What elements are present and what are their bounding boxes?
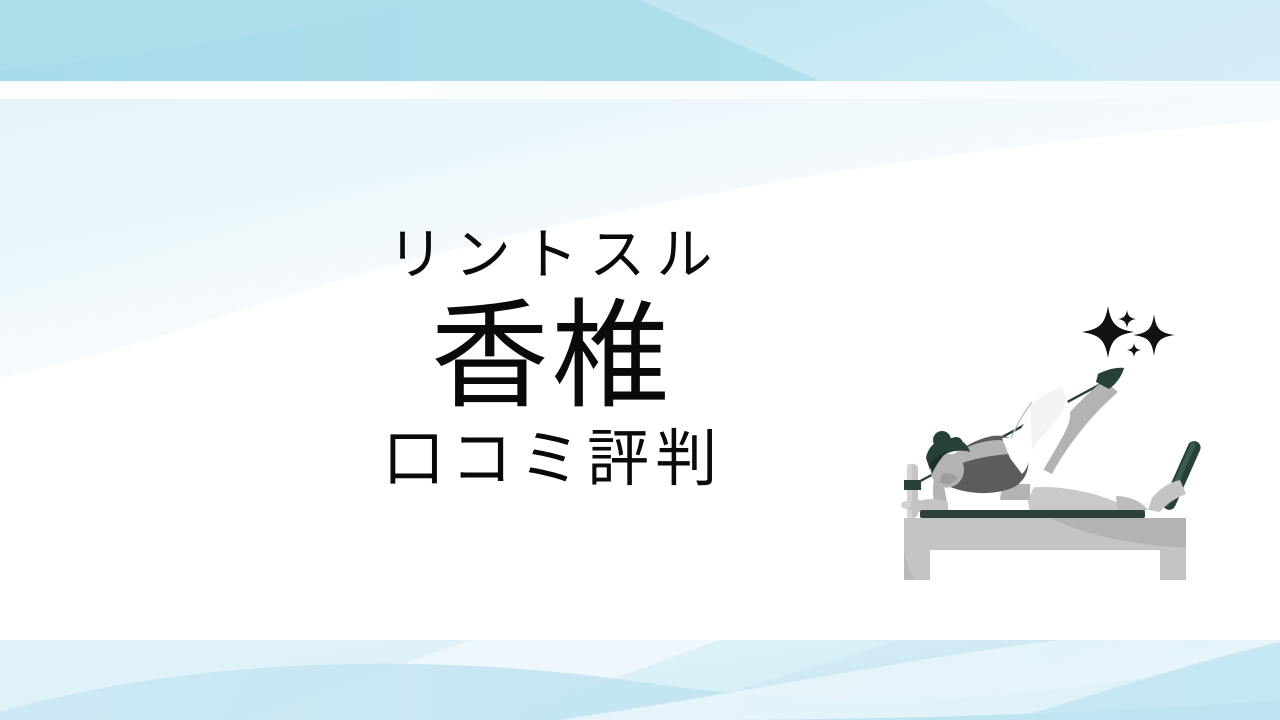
sparkle-small-top xyxy=(1118,310,1136,328)
top-band-fade xyxy=(0,81,1280,99)
reformer-leg-right xyxy=(1160,550,1186,580)
figure-fist xyxy=(901,501,911,509)
pilates-reformer-illustration xyxy=(880,288,1220,580)
reformer-foot-bar xyxy=(1148,439,1203,512)
figure-body xyxy=(901,388,1148,514)
figure-hair-bun xyxy=(933,431,951,449)
bottom-band xyxy=(0,640,1280,720)
pilates-illustration-svg xyxy=(880,288,1220,580)
reformer-carriage-rail xyxy=(920,510,1145,518)
top-band xyxy=(0,0,1280,81)
figure-back-leg xyxy=(1026,487,1129,514)
figure-hair-bun-2 xyxy=(949,437,963,451)
sparkle-group xyxy=(1082,306,1175,358)
thumbnail-canvas: リントスル 香椎 口コミ評判 xyxy=(0,0,1280,720)
reformer-frame xyxy=(904,510,1186,580)
sparkle-small-bottom xyxy=(1127,343,1141,357)
